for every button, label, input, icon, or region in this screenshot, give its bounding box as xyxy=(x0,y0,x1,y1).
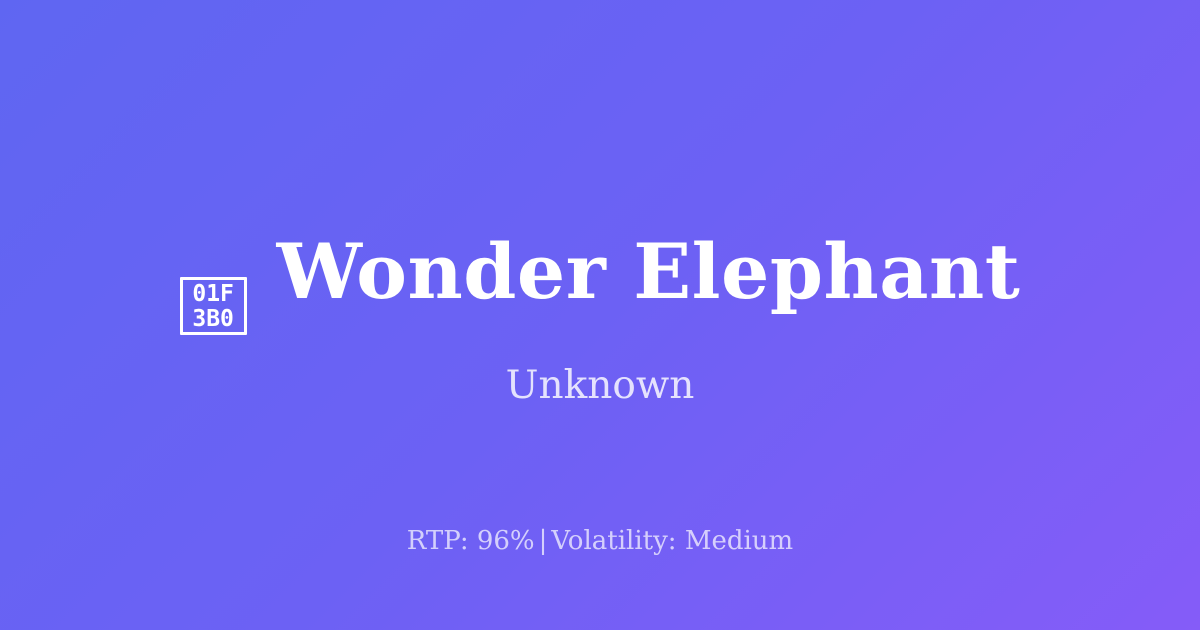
game-provider-subtitle: Unknown xyxy=(0,363,1200,409)
tofu-codepoint-row-lower: 3B0 xyxy=(185,307,242,332)
game-meta-line: RTP: 96%|Volatility: Medium xyxy=(0,525,1200,557)
title-row: 01F 3B0 Wonder Elephant xyxy=(0,234,1200,332)
tofu-codepoint-row-upper: 01F xyxy=(185,282,242,307)
rtp-value: RTP: 96% xyxy=(407,526,535,556)
page-title: Wonder Elephant xyxy=(277,234,1021,310)
slot-machine-icon: 01F 3B0 xyxy=(180,277,247,335)
volatility-value: Volatility: Medium xyxy=(551,526,793,556)
meta-separator: | xyxy=(535,526,552,556)
game-preview-card: 01F 3B0 Wonder Elephant Unknown RTP: 96%… xyxy=(0,0,1200,630)
